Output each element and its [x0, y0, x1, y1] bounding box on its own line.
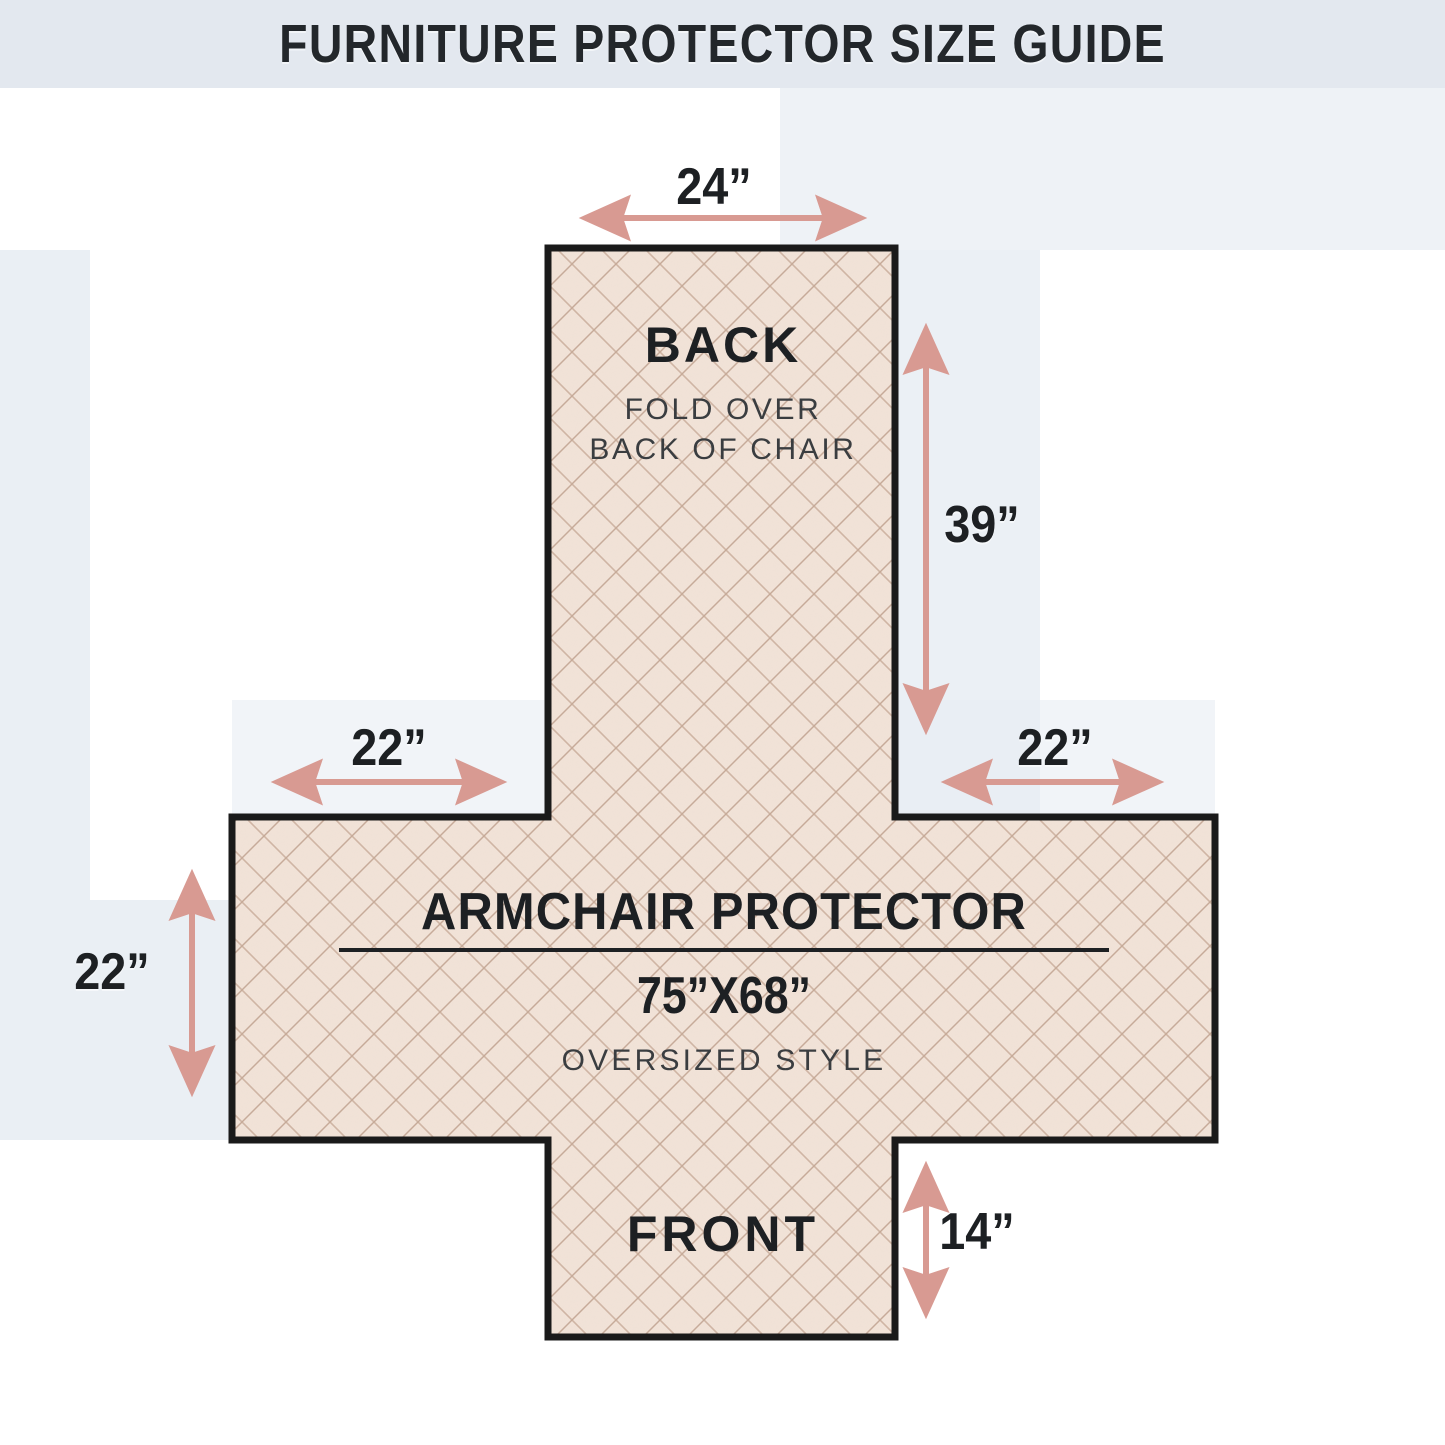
front-panel-text: FRONT — [548, 1205, 898, 1263]
center-panel-text: ARMCHAIR PROTECTOR 75”X68” OVERSIZED STY… — [233, 885, 1215, 1078]
background-tint-blocks — [0, 88, 1445, 1445]
dimension-label-back-height: 39” — [944, 495, 1019, 555]
watermark-wash — [0, 88, 60, 1188]
dimension-label-left-arm: 22” — [351, 718, 426, 778]
cross-polygon — [232, 248, 1215, 1337]
back-panel-instruction-line-2: BACK OF CHAIR — [548, 430, 898, 470]
dimension-label-top-width: 24” — [676, 157, 751, 217]
arrow-arm-depth — [174, 876, 210, 1090]
product-style: OVERSIZED STYLE — [233, 1044, 1215, 1078]
title-underline-rule — [339, 948, 1109, 952]
dimension-label-right-arm: 22” — [1017, 718, 1092, 778]
header-band: FURNITURE PROTECTOR SIZE GUIDE — [0, 0, 1445, 88]
arrow-back-height — [908, 330, 944, 728]
front-panel-title: FRONT — [548, 1205, 898, 1263]
back-panel-text: BACK FOLD OVER BACK OF CHAIR — [548, 320, 898, 469]
product-dimensions: 75”X68” — [302, 970, 1147, 1022]
dimension-label-arm-depth: 22” — [74, 942, 149, 1002]
back-panel-title: BACK — [548, 320, 898, 370]
size-guide-infographic: FURNITURE PROTECTOR SIZE GUIDE — [0, 0, 1445, 1445]
back-panel-instructions: FOLD OVER BACK OF CHAIR — [548, 390, 898, 469]
page-title: FURNITURE PROTECTOR SIZE GUIDE — [279, 13, 1166, 75]
dimension-label-front-drop: 14” — [939, 1202, 1014, 1262]
product-name: ARMCHAIR PROTECTOR — [262, 885, 1185, 940]
back-panel-instruction-line-1: FOLD OVER — [548, 390, 898, 430]
